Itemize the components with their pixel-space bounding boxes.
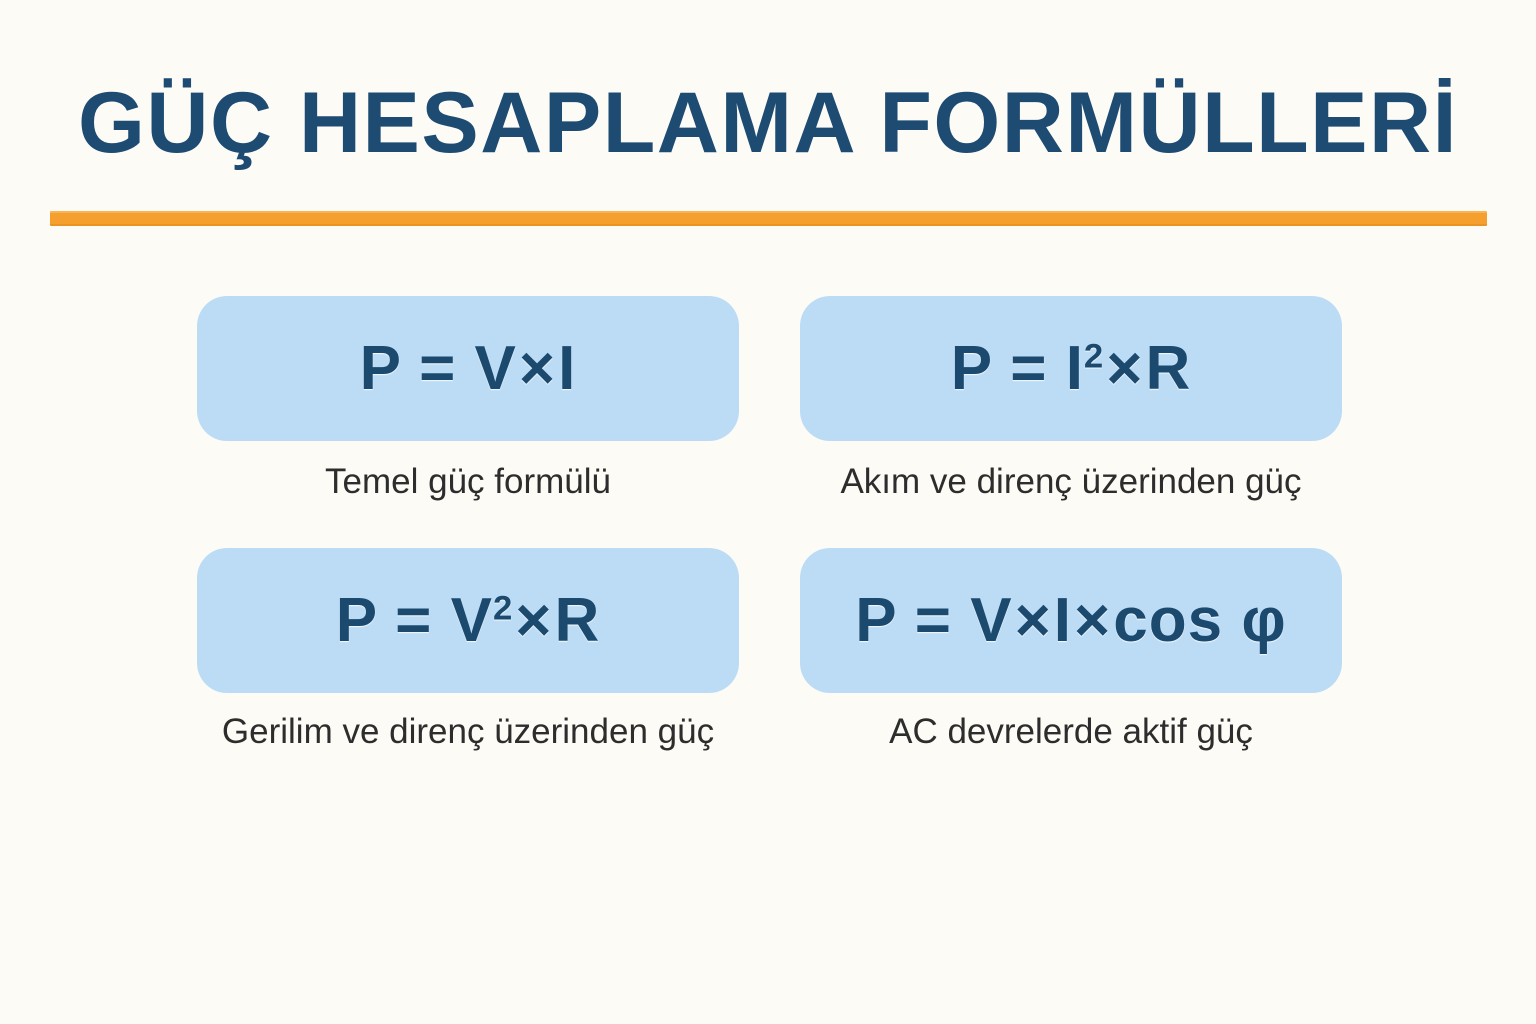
formula-1-term-2: I [558, 334, 576, 403]
formula-4-equals: = [915, 586, 952, 655]
formula-text-3: P = V2×R [336, 590, 601, 652]
formula-card-4[interactable]: P = V×I×cos φ [800, 548, 1342, 693]
formula-2-lhs: P [951, 334, 992, 403]
formula-cell-2: P = I2×R Akım ve direnç üzerinden güç [800, 296, 1342, 502]
formula-3-equals: = [395, 586, 432, 655]
formula-4-term-3: cos [1113, 586, 1223, 655]
formula-cell-3: P = V2×R Gerilim ve direnç üzerinden güç [197, 548, 739, 752]
formula-caption-2: Akım ve direnç üzerinden güç [800, 463, 1342, 502]
formula-2-equals: = [1010, 334, 1047, 403]
page-title: GÜÇ HESAPLAMA FORMÜLLERİ [0, 78, 1536, 168]
formula-1-lhs: P [360, 334, 401, 403]
formula-1-equals: = [419, 334, 456, 403]
formula-text-4: P = V×I×cos φ [855, 590, 1286, 652]
formula-card-2[interactable]: P = I2×R [800, 296, 1342, 441]
multiply-icon: × [1013, 586, 1054, 655]
formula-caption-3: Gerilim ve direnç üzerinden güç [197, 713, 739, 752]
formula-3-lhs: P [336, 586, 377, 655]
title-block: GÜÇ HESAPLAMA FORMÜLLERİ [0, 78, 1536, 168]
formula-2-term-1: I [1066, 334, 1084, 403]
formula-3-term-1: V [451, 586, 493, 655]
formula-text-1: P = V×I [360, 338, 577, 400]
multiply-icon: × [1104, 334, 1145, 403]
formula-cell-4: P = V×I×cos φ AC devrelerde aktif güç [800, 548, 1342, 752]
formula-2-term-2: R [1145, 334, 1191, 403]
multiply-icon: × [517, 334, 558, 403]
formula-grid: P = V×I Temel güç formülü P = I2×R Akım … [0, 296, 1536, 800]
formula-caption-4: AC devrelerde aktif güç [800, 713, 1342, 752]
formula-3-exponent-1: 2 [493, 589, 513, 627]
formula-card-1[interactable]: P = V×I [197, 296, 739, 441]
formula-caption-1: Temel güç formülü [197, 463, 739, 502]
multiply-icon: × [1072, 586, 1113, 655]
formula-text-2: P = I2×R [951, 338, 1191, 400]
formula-4-term-4: φ [1241, 586, 1286, 655]
formula-cell-1: P = V×I Temel güç formülü [197, 296, 739, 502]
accent-divider [50, 211, 1487, 226]
formula-4-term-1: V [970, 586, 1012, 655]
formula-3-term-2: R [555, 586, 601, 655]
formula-2-exponent-1: 2 [1084, 337, 1104, 375]
formula-4-term-2: I [1054, 586, 1072, 655]
formula-row-2: P = V2×R Gerilim ve direnç üzerinden güç… [0, 548, 1536, 800]
formula-4-lhs: P [855, 586, 896, 655]
slide-canvas: GÜÇ HESAPLAMA FORMÜLLERİ P = V×I Temel g… [0, 0, 1536, 1024]
formula-row-1: P = V×I Temel güç formülü P = I2×R Akım … [0, 296, 1536, 548]
formula-card-3[interactable]: P = V2×R [197, 548, 739, 693]
formula-1-term-1: V [475, 334, 517, 403]
multiply-icon: × [513, 586, 554, 655]
